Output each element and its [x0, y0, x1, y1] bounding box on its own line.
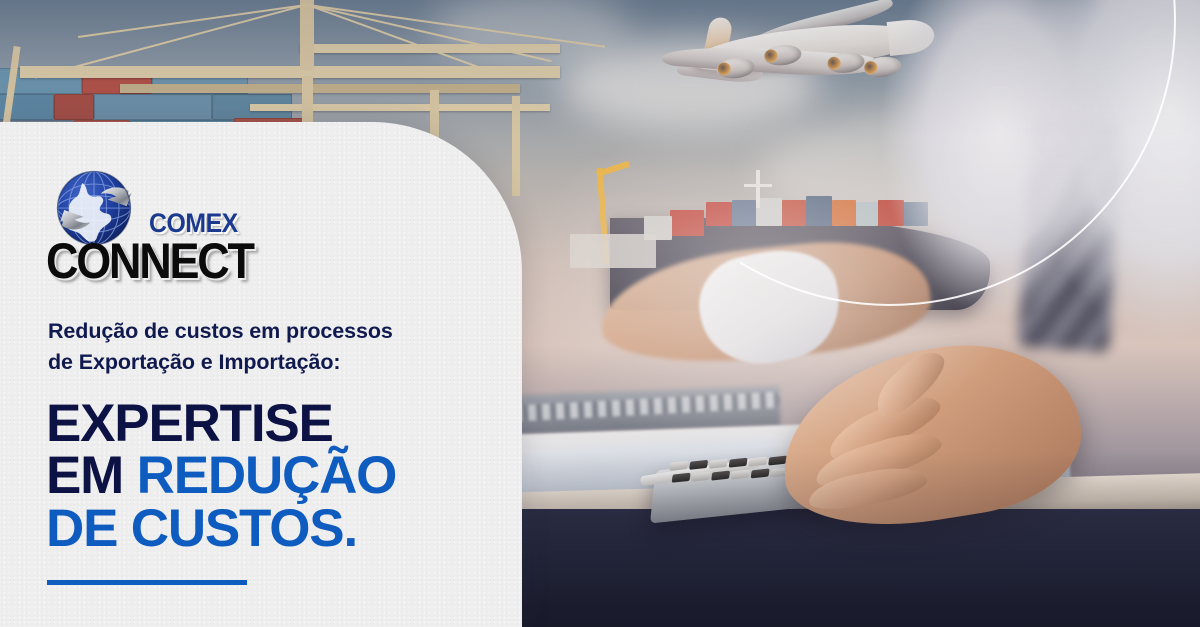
headline: EXPERTISE EM REDUÇÃO DE CUSTOS.	[46, 398, 506, 555]
accent-rule	[47, 580, 247, 585]
desk-front	[500, 509, 1200, 627]
headline-line-2-blue: REDUÇÃO	[137, 446, 397, 505]
headline-line-3: DE CUSTOS.	[46, 503, 506, 555]
logo-connect-text: CONNECT	[46, 232, 253, 290]
person-shirt	[880, 0, 1200, 380]
headline-line-2-navy: EM	[46, 446, 137, 505]
marketing-banner: COMEX CONNECT Redução de custos em proce…	[0, 0, 1200, 627]
brand-logo[interactable]: COMEX CONNECT	[44, 160, 244, 280]
kicker-line-2: de Exportação e Importação:	[48, 347, 468, 378]
headline-line-2: EM REDUÇÃO	[46, 450, 506, 502]
headline-line-1: EXPERTISE	[46, 398, 506, 450]
kicker-line-1: Redução de custos em processos	[48, 316, 468, 347]
kicker-text: Redução de custos em processos de Export…	[48, 316, 468, 377]
